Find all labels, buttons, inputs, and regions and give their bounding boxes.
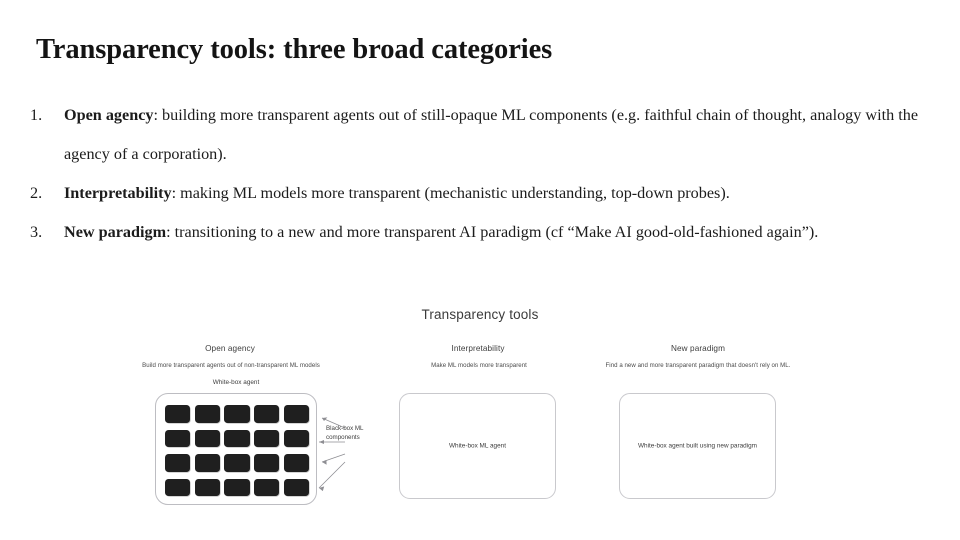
black-box-component bbox=[195, 479, 220, 497]
new-paradigm-agent-label: White-box agent built using new paradigm bbox=[620, 443, 775, 450]
list-item-body: : making ML models more transparent (mec… bbox=[172, 184, 730, 202]
list-item-lead: Interpretability bbox=[64, 184, 172, 202]
black-box-component bbox=[165, 430, 190, 448]
diagram-column-heading-interpretability: Interpretability bbox=[400, 344, 556, 353]
list-item-text: New paradigm: transitioning to a new and… bbox=[64, 213, 944, 252]
bullet-list: 1. Open agency: building more transparen… bbox=[26, 96, 944, 252]
white-box-agent-panel bbox=[155, 393, 317, 505]
list-item-text: Open agency: building more transparent a… bbox=[64, 96, 944, 174]
black-box-component bbox=[165, 454, 190, 472]
list-item-number: 1. bbox=[26, 96, 64, 135]
black-box-component bbox=[254, 430, 279, 448]
list-item: 1. Open agency: building more transparen… bbox=[26, 96, 944, 174]
new-paradigm-agent-panel: White-box agent built using new paradigm bbox=[619, 393, 776, 499]
white-box-ml-agent-label: White-box ML agent bbox=[400, 443, 555, 450]
list-item-text: Interpretability: making ML models more … bbox=[64, 174, 944, 213]
white-box-agent-caption: White-box agent bbox=[155, 379, 317, 386]
black-box-component bbox=[195, 454, 220, 472]
transparency-tools-diagram: Transparency tools Open agency Build mor… bbox=[0, 296, 960, 536]
black-box-component bbox=[224, 479, 249, 497]
black-box-components-annotation: Black-box ML components bbox=[326, 424, 388, 442]
black-box-component bbox=[165, 405, 190, 423]
list-item-number: 2. bbox=[26, 174, 64, 213]
diagram-column-subtitle-interpretability: Make ML models more transparent bbox=[385, 362, 573, 369]
annotation-arrows-icon bbox=[305, 396, 365, 496]
list-item-number: 3. bbox=[26, 213, 64, 252]
list-item-lead: New paradigm bbox=[64, 223, 166, 241]
list-item: 2. Interpretability: making ML models mo… bbox=[26, 174, 944, 213]
black-box-component bbox=[195, 405, 220, 423]
diagram-title: Transparency tools bbox=[0, 307, 960, 322]
black-box-component bbox=[165, 479, 190, 497]
diagram-column-heading-new-paradigm: New paradigm bbox=[620, 344, 776, 353]
page-title: Transparency tools: three broad categori… bbox=[36, 34, 552, 66]
black-box-component bbox=[224, 405, 249, 423]
black-box-component bbox=[254, 479, 279, 497]
list-item: 3. New paradigm: transitioning to a new … bbox=[26, 213, 944, 252]
black-box-component bbox=[195, 430, 220, 448]
black-box-component bbox=[254, 405, 279, 423]
white-box-ml-agent-panel: White-box ML agent bbox=[399, 393, 556, 499]
black-box-component bbox=[224, 454, 249, 472]
black-box-component-grid bbox=[165, 405, 309, 496]
list-item-body: : building more transparent agents out o… bbox=[64, 106, 918, 163]
list-item-body: : transitioning to a new and more transp… bbox=[166, 223, 818, 241]
diagram-column-subtitle-open-agency: Build more transparent agents out of non… bbox=[116, 362, 346, 369]
black-box-component bbox=[254, 454, 279, 472]
list-item-lead: Open agency bbox=[64, 106, 153, 124]
black-box-component bbox=[224, 430, 249, 448]
diagram-column-subtitle-new-paradigm: Find a new and more transparent paradigm… bbox=[578, 362, 818, 369]
diagram-column-heading-open-agency: Open agency bbox=[130, 344, 330, 353]
